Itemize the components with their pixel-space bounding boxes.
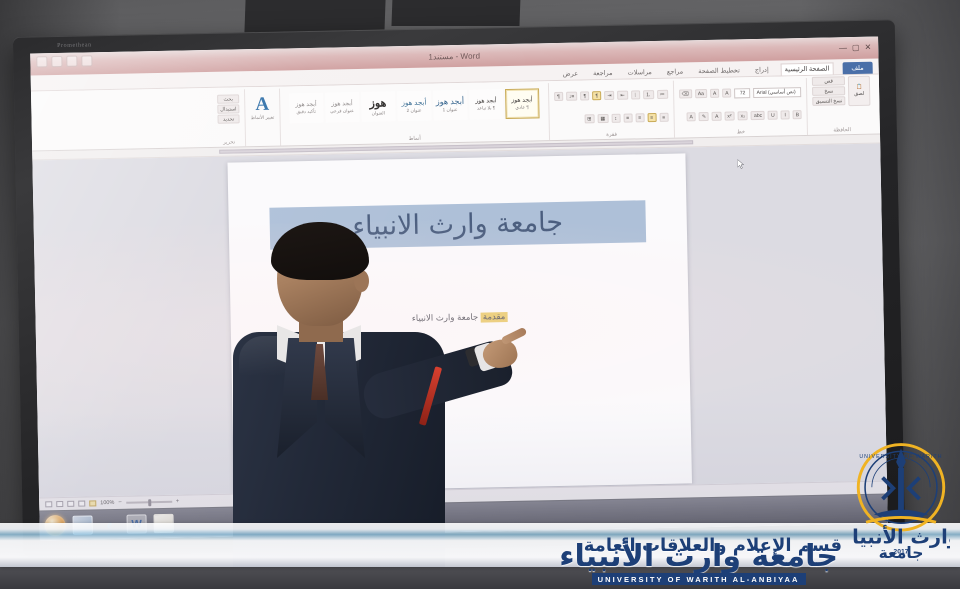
clipboard-row-1[interactable]: 📋 لصق قص نسخ نسخ التنسيق [812,79,870,103]
paragraph-row-1[interactable]: ≔ ⒈ ⁞ ⇤ ⇥ ¶ ¶ ↓≡ ¶ [554,83,668,108]
zoom-level-value[interactable]: 100% [100,500,114,506]
whiteboard-brand-label: Promethean [57,42,92,49]
wordmark-english: UNIVERSITY OF WARITH AL-ANBIYAA [592,573,806,585]
change-styles-label: تغيير الأنماط [251,115,275,121]
font-row-2[interactable]: B I U abc x₂ x² A ✎ A [679,103,802,128]
paste-button[interactable]: 📋 لصق [848,75,871,105]
clipboard-icon: 📋 [856,84,862,90]
zoom-slider-knob[interactable] [148,499,151,506]
superscript-button[interactable]: x² [724,111,734,120]
strikethrough-button[interactable]: abc [751,111,765,120]
web-layout-icon[interactable] [67,501,74,507]
full-screen-icon[interactable] [78,501,85,507]
change-styles-icon[interactable]: A [255,95,269,114]
change-styles-row[interactable]: A تغيير الأنماط [250,91,274,121]
group-label-clipboard: الحافظة [808,127,876,134]
group-label-font: خط [674,128,807,137]
copy-button[interactable]: نسخ [812,86,845,96]
university-emblem-icon: UNIVERSITY OF WARITH وارث الأنبياء جامعة… [852,429,950,565]
paragraph-row-2[interactable]: ≡ ≡ ≡ ≡ ↕ ▦ ⊞ [554,106,668,131]
statusbar-view-controls[interactable]: + − 100% [45,499,179,508]
ribbon-group-paragraph: ≔ ⒈ ⁞ ⇤ ⇥ ¶ ¶ ↓≡ ¶ ≡ ≡ [548,81,674,140]
group-label-paragraph: فقرة [550,131,674,139]
increase-indent-icon[interactable]: ⇥ [604,91,614,100]
multilevel-icon[interactable]: ⁞ [631,90,640,99]
font-name-input[interactable]: (نص أساسي) Arial [753,87,801,98]
style-subtitle[interactable]: أبجد هوز عنوان فرعي [325,92,360,123]
university-wordmark: جامعة وارث الأنبياء UNIVERSITY OF WARITH… [559,542,838,585]
ribbon-group-font: (نص أساسي) Arial 72 A A Aa ⌫ B I U abc [672,78,807,138]
rtl-icon[interactable]: ¶ [592,91,601,100]
style-normal[interactable]: أبجد هوز ¶ عادي [505,88,540,119]
align-center-icon[interactable]: ≡ [647,113,656,122]
ceiling-panel-right [391,0,520,26]
borders-icon[interactable]: ⊞ [584,114,594,123]
screenshot-root: Promethean مستند1 - Word — ▢ ✕ [0,0,960,589]
clear-formatting-icon[interactable]: ⌫ [679,89,692,98]
style-heading-1[interactable]: أبجد هوز عنوان 1 [433,90,468,121]
line-spacing-icon[interactable]: ↕ [611,114,620,123]
ribbon-group-clipboard: 📋 لصق قص نسخ نسخ التنسيق الحافظة [806,77,876,135]
tab-references[interactable]: مراجع [664,66,687,77]
align-left-icon[interactable]: ≡ [635,113,644,122]
subscript-button[interactable]: x₂ [737,111,748,120]
tab-page-layout[interactable]: تخطيط الصفحة [695,65,743,77]
ribbon-group-styles: أبجد هوز ¶ عادي أبجد هوز ¶ بلا تباعد أبج… [279,83,549,145]
bold-button[interactable]: B [793,110,803,119]
tab-mailings[interactable]: مراسلات [624,67,655,79]
style-subtle-emphasis[interactable]: أبجد هوز تأكيد دقيق [289,93,324,124]
sort-icon[interactable]: ↓≡ [566,92,578,101]
font-color-icon[interactable]: A [686,112,696,121]
group-label-editing: تحرير [213,139,245,146]
underline-button[interactable]: U [768,111,778,120]
tab-file[interactable]: ملف [842,62,873,75]
ribbon-group-editing: بحث استبدال تحديد تحرير [212,89,245,147]
tab-view[interactable]: عرض [560,69,582,80]
highlight-icon[interactable]: ✎ [699,112,709,121]
italic-button[interactable]: I [781,110,790,119]
outline-icon[interactable] [56,501,63,507]
text-effects-icon[interactable]: A [712,112,722,121]
mouse-pointer-icon [738,160,745,170]
decrease-indent-icon[interactable]: ⇤ [617,91,627,100]
change-case-button[interactable]: Aa [695,89,707,98]
find-button[interactable]: بحث [217,94,239,103]
style-no-spacing[interactable]: أبجد هوز ¶ بلا تباعد [469,89,504,120]
font-size-input[interactable]: 72 [734,88,750,98]
align-right-icon[interactable]: ≡ [659,113,668,122]
select-button[interactable]: تحديد [217,114,239,123]
tab-insert[interactable]: إدراج [752,65,772,76]
zoom-slider[interactable] [126,501,172,504]
styles-gallery[interactable]: أبجد هوز ¶ عادي أبجد هوز ¶ بلا تباعد أبج… [285,85,544,132]
print-layout-icon[interactable] [89,500,96,506]
style-title[interactable]: هوز العنوان [361,91,396,122]
presenter-hair [271,222,369,280]
numbering-icon[interactable]: ⒈ [643,90,654,99]
cut-button[interactable]: قص [812,76,845,86]
shrink-font-button[interactable]: A [710,89,720,98]
style-heading-2[interactable]: أبجد هوز عنوان 2 [397,91,432,122]
pilcrow-icon[interactable]: ¶ [554,92,563,101]
zoom-in-button[interactable]: + [176,499,180,505]
replace-button[interactable]: استبدال [217,104,239,113]
wordmark-arabic: جامعة وارث الأنبياء [559,542,838,572]
ltr-icon[interactable]: ¶ [580,91,589,100]
bullets-icon[interactable]: ≔ [657,90,668,99]
tab-home[interactable]: الصفحة الرئيسية [781,62,834,75]
shading-icon[interactable]: ▦ [597,114,608,123]
font-row-1[interactable]: (نص أساسي) Arial 72 A A Aa ⌫ [678,80,801,105]
format-painter-button[interactable]: نسخ التنسيق [813,96,846,106]
draft-icon[interactable] [45,501,52,507]
grow-font-button[interactable]: A [722,88,732,97]
justify-icon[interactable]: ≡ [623,113,632,122]
svg-text:2017: 2017 [893,548,908,555]
tab-review[interactable]: مراجعة [590,68,616,80]
ribbon-group-change-styles: A تغيير الأنماط [244,89,280,147]
zoom-out-button[interactable]: − [118,500,122,506]
